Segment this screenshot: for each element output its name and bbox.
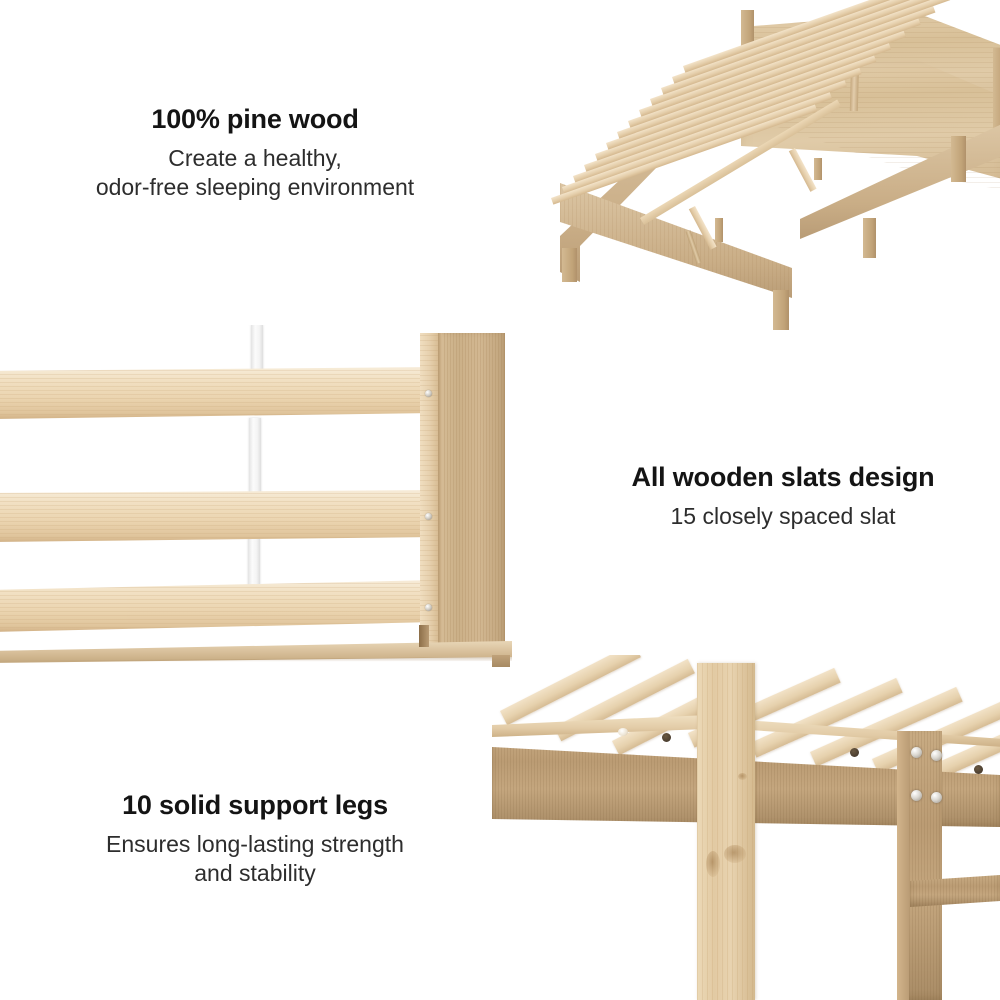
corner-leg-face xyxy=(897,731,909,1000)
feature-title-wooden-slats: All wooden slats design xyxy=(583,462,983,493)
bed-frame-illustration xyxy=(545,0,1000,330)
leg-back-right xyxy=(951,136,966,182)
feature-block-wooden-slats: All wooden slats design 15 closely space… xyxy=(583,462,983,531)
ledger-base-notch xyxy=(419,625,429,647)
feature-title-pine-wood: 100% pine wood xyxy=(55,104,455,135)
centre-leg-back xyxy=(814,158,822,180)
slat-cleat-3 xyxy=(974,765,983,774)
slat-closeup-photo xyxy=(0,325,512,670)
feature-title-support-legs: 10 solid support legs xyxy=(55,790,455,821)
slat-screw-3 xyxy=(425,604,432,611)
centre-support-leg xyxy=(697,663,755,1000)
wooden-bed-frame-photo xyxy=(545,0,1000,330)
feature-block-support-legs: 10 solid support legs Ensures long-lasti… xyxy=(55,790,455,889)
ledger-hole xyxy=(618,728,628,736)
centre-leg-front xyxy=(715,218,723,242)
leg-mid-right xyxy=(863,218,876,258)
feature-subtitle-pine-wood: Create a healthy, odor-free sleeping env… xyxy=(55,144,455,203)
post-knot-2 xyxy=(706,851,720,877)
leg-front-left xyxy=(562,248,577,282)
slat-screw-2 xyxy=(425,513,432,520)
bed-slat-group xyxy=(545,0,1000,330)
post-knot-3 xyxy=(738,773,747,780)
slat-1 xyxy=(0,367,435,419)
corner-leg-bolt-4 xyxy=(931,792,942,803)
feature-block-pine-wood: 100% pine wood Create a healthy, odor-fr… xyxy=(55,104,455,203)
slat-cleat-1 xyxy=(662,733,671,742)
corner-leg-bolt-1 xyxy=(911,747,922,758)
support-leg-photo xyxy=(492,655,1000,1000)
slat-strap-middle xyxy=(249,418,261,498)
side-rail-edge-highlight xyxy=(438,333,442,655)
post-knot-1 xyxy=(724,845,746,863)
feature-subtitle-wooden-slats: 15 closely spaced slat xyxy=(583,502,983,531)
infographic-canvas: 100% pine wood Create a healthy, odor-fr… xyxy=(0,0,1000,1000)
slat-cleat-2 xyxy=(850,748,859,757)
slat-screw-1 xyxy=(425,390,432,397)
slat-3 xyxy=(0,580,435,632)
corner-leg-bolt-2 xyxy=(931,750,942,761)
feature-subtitle-support-legs: Ensures long-lasting strength and stabil… xyxy=(55,830,455,889)
slat-2 xyxy=(0,490,435,542)
leg-front-right xyxy=(773,290,789,330)
corner-leg-bolt-3 xyxy=(911,790,922,801)
side-rail-panel xyxy=(438,333,505,655)
